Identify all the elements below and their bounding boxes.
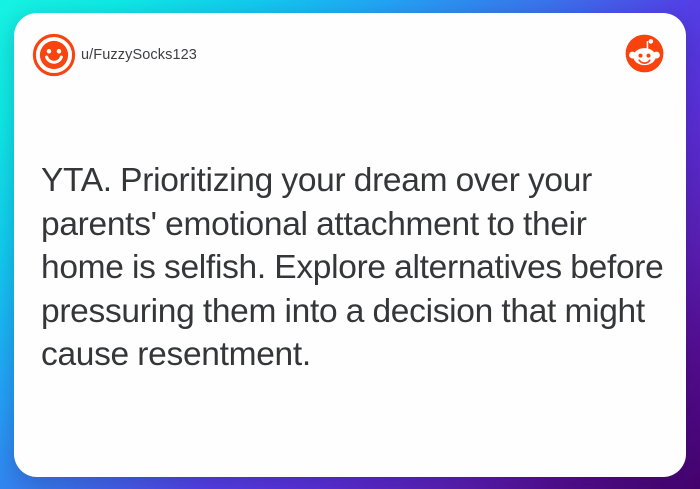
username-label[interactable]: u/FuzzySocks123 <box>81 46 197 64</box>
gradient-backdrop: u/FuzzySocks123 <box>0 0 700 489</box>
reddit-post-card: u/FuzzySocks123 <box>14 13 686 477</box>
smiley-face-avatar-icon[interactable] <box>32 33 76 77</box>
reddit-snoo-icon[interactable] <box>625 34 664 73</box>
post-text: YTA. Prioritizing your dream over your p… <box>41 159 667 377</box>
post-body: YTA. Prioritizing your dream over your p… <box>41 159 667 377</box>
post-header: u/FuzzySocks123 <box>14 13 686 109</box>
